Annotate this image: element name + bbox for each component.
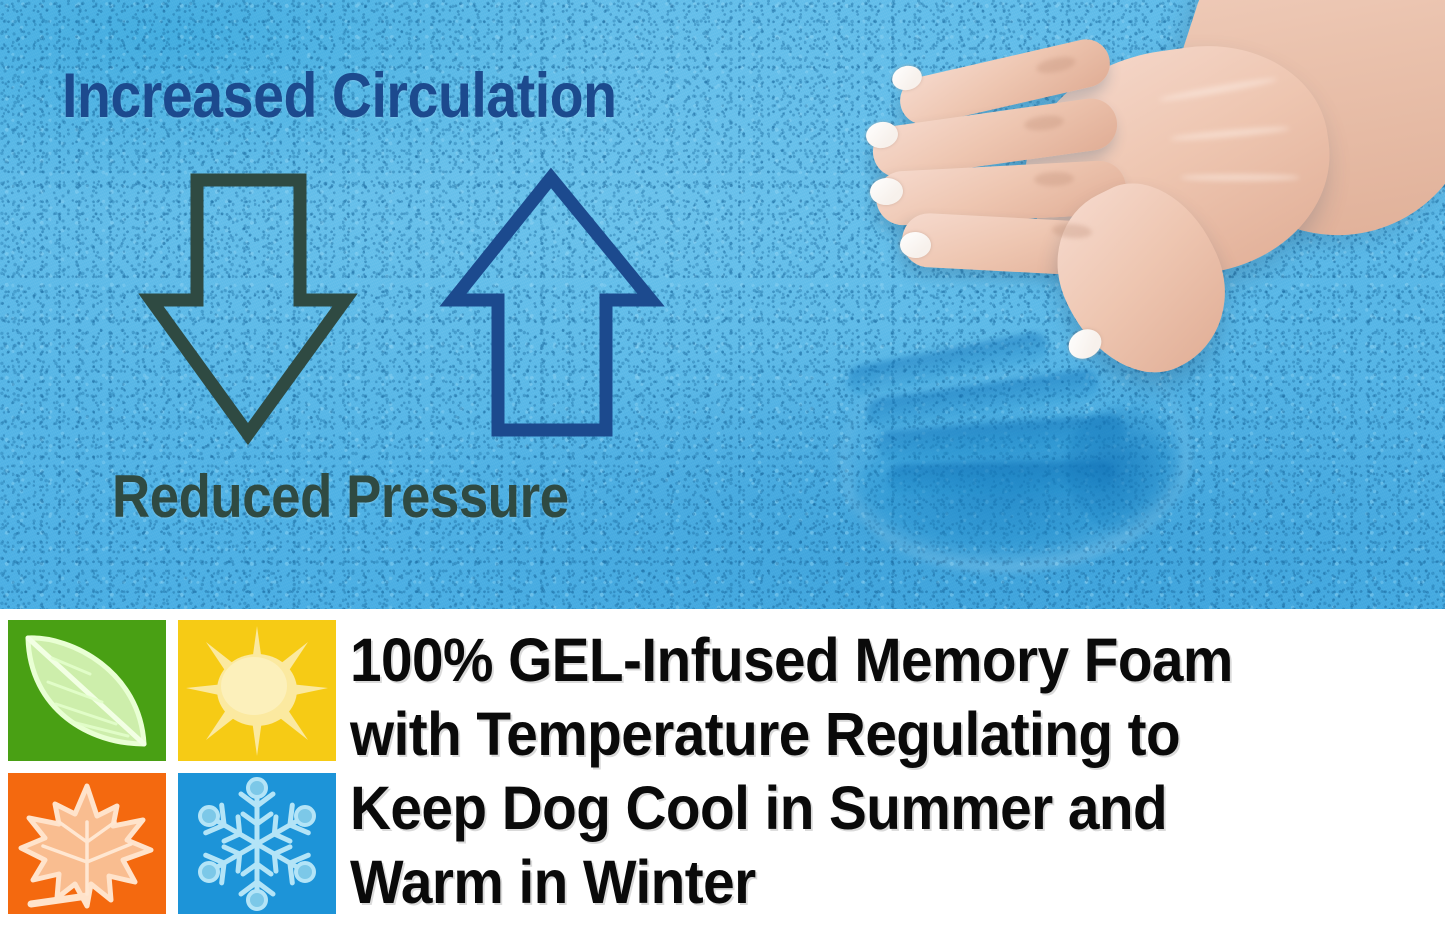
season-tile-spring [8,620,166,761]
sun-icon [184,624,330,758]
headline-block: 100% GEL-Infused Memory Foam with Temper… [350,623,1445,919]
foam-photo-panel: Increased Circulation Reduced Pressure [0,0,1445,609]
arrow-down-icon [138,172,353,444]
reduced-pressure-caption: Reduced Pressure [112,462,569,531]
increased-circulation-caption: Increased Circulation [62,60,617,132]
headline-line-3: Keep Dog Cool in Summer and [350,771,1368,845]
headline-line-2: with Temperature Regulating to [350,697,1368,771]
hand-photo [828,0,1445,424]
arrow-up-icon [440,168,662,440]
feature-info-band: 100% GEL-Infused Memory Foam with Temper… [0,609,1445,927]
maple-leaf-icon [13,776,161,912]
headline-line-4: Warm in Winter [350,845,1368,919]
tendon-highlight [1180,174,1300,181]
season-tile-summer [178,620,336,761]
product-graphic: Increased Circulation Reduced Pressure [0,0,1445,927]
snowflake-icon [185,776,329,912]
leaf-icon [12,624,162,758]
season-tile-winter [178,773,336,914]
four-season-icon-grid [8,620,336,918]
season-tile-autumn [8,773,166,914]
headline-line-1: 100% GEL-Infused Memory Foam [350,623,1368,697]
